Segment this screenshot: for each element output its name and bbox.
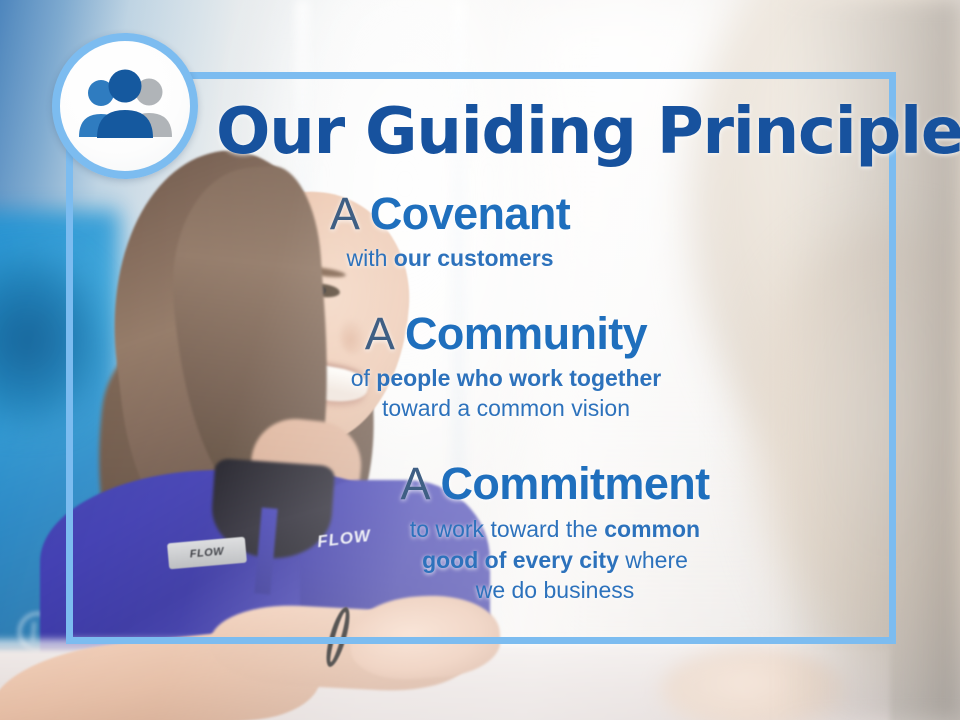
subtext-plain: with — [346, 245, 393, 271]
principle-article: A — [330, 188, 370, 239]
subtext-emphasis: our customers — [394, 245, 554, 271]
subtext-plain: to work toward the — [410, 516, 604, 542]
principle-heading: A Community — [116, 310, 896, 358]
principle-keyword: Commitment — [441, 458, 710, 509]
principle-subtext-line: we do business — [214, 575, 896, 606]
principle-subtext-line: of people who work together — [116, 364, 896, 394]
principle-subtext: to work toward the commongood of every c… — [214, 514, 896, 606]
page-title: Our Guiding Principles — [216, 100, 876, 165]
principle-covenant: A Covenant with our customers — [66, 190, 896, 274]
principle-heading: A Commitment — [214, 460, 896, 508]
principle-subtext-line: good of every city where — [214, 545, 896, 576]
principle-subtext: with our customers — [66, 244, 834, 274]
principle-keyword: Community — [405, 308, 647, 359]
subtext-plain: we do business — [476, 577, 635, 603]
principle-commitment: A Commitment to work toward the commongo… — [66, 460, 896, 606]
subtext-emphasis: people who work together — [376, 365, 661, 391]
subtext-plain: of — [351, 365, 377, 391]
guiding-principles-graphic: FLOW FLOW — [0, 0, 960, 720]
principle-subtext-line: to work toward the common — [214, 514, 896, 545]
principle-subtext-line: with our customers — [66, 244, 834, 274]
principle-article: A — [400, 458, 440, 509]
principle-keyword: Covenant — [370, 188, 570, 239]
principle-article: A — [365, 308, 405, 359]
principle-subtext-line: toward a common vision — [116, 394, 896, 424]
principle-community: A Community of people who work togethert… — [66, 310, 896, 423]
subtext-emphasis: good of every city — [422, 547, 619, 573]
subtext-plain: where — [619, 547, 688, 573]
content-area: Our Guiding Principles A Covenant with o… — [66, 72, 896, 644]
principle-heading: A Covenant — [66, 190, 834, 238]
subtext-emphasis: common — [604, 516, 700, 542]
principle-subtext: of people who work togethertoward a comm… — [116, 364, 896, 424]
subtext-plain: toward a common vision — [382, 395, 630, 421]
